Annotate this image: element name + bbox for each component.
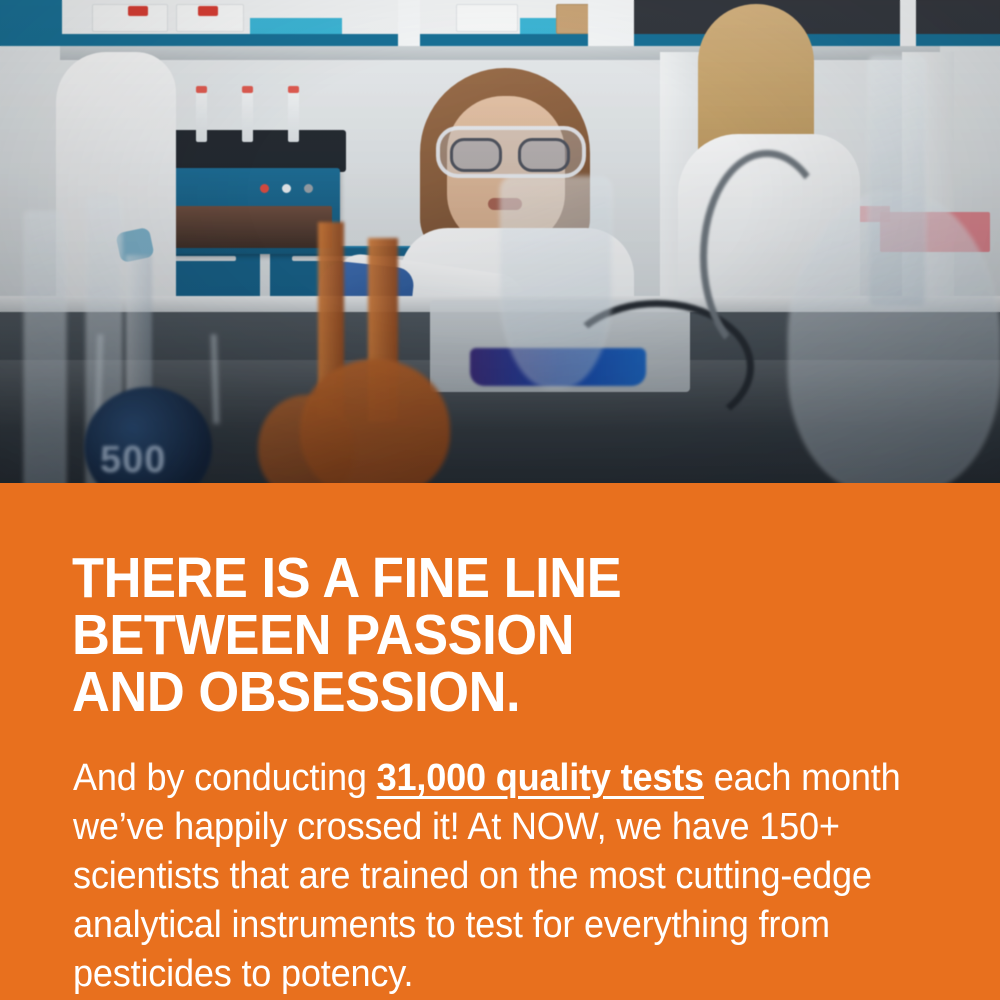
instrument-led-grey xyxy=(304,184,313,193)
foreground-cylinder-right xyxy=(868,56,926,308)
body-copy: And by conducting 31,000 quality tests e… xyxy=(73,754,919,999)
body-copy-before: And by conducting xyxy=(73,757,377,799)
tube-cap-icon xyxy=(288,86,299,93)
shelf-divider-2 xyxy=(588,0,634,52)
shelf-cyan-block-1 xyxy=(250,18,342,34)
sample-tube xyxy=(242,90,253,142)
sample-tube xyxy=(288,90,299,142)
safety-goggles-icon xyxy=(436,126,586,178)
instrument-led-white xyxy=(282,184,291,193)
tube-cap-icon xyxy=(242,86,253,93)
foreground-flask-center xyxy=(500,176,612,388)
tube-cap-icon xyxy=(196,86,207,93)
quality-tests-stat: 31,000 quality tests xyxy=(377,757,704,799)
shelf-red-marker-1 xyxy=(128,6,148,16)
shelf-box-3 xyxy=(456,4,518,32)
shelf-red-marker-2 xyxy=(198,6,218,16)
page-title: THERE IS A FINE LINE BETWEEN PASSION AND… xyxy=(72,550,882,721)
lab-photo-scene: 500 xyxy=(0,0,1000,483)
lab-photo: 500 xyxy=(0,0,1000,483)
sample-tube xyxy=(196,90,207,142)
goggles-lens-right xyxy=(518,138,570,172)
shelf-divider-3 xyxy=(900,0,916,52)
goggles-lens-left xyxy=(450,138,502,172)
flask-volume-label: 500 xyxy=(100,439,166,482)
foreground-cylinder-left xyxy=(24,210,66,483)
instrument-led-red xyxy=(260,184,269,193)
promo-card: 500 THERE IS A FINE LINE BETWEEN PASSION… xyxy=(0,0,1000,1000)
shelf-divider-1 xyxy=(398,0,420,52)
